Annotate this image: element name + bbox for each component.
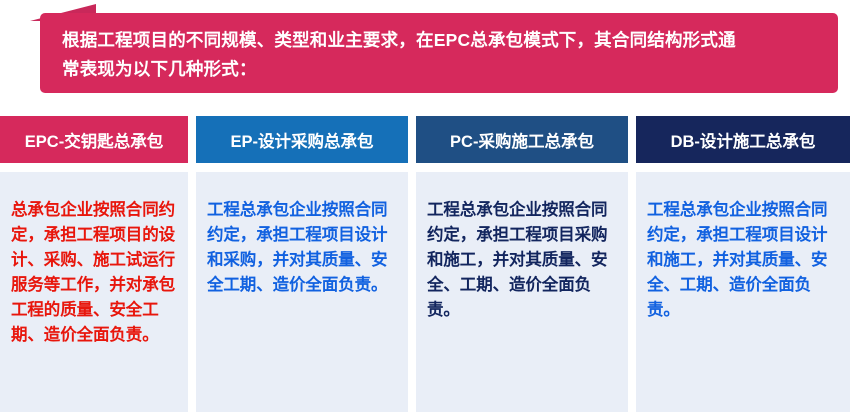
column-epc: EPC-交钥匙总承包 总承包企业按照合同约定，承担工程项目的设计、采购、施工试运… xyxy=(0,116,196,412)
column-pc: PC-采购施工总承包 工程总承包企业按照合同约定，承担工程项目采购和施工，并对其… xyxy=(416,116,636,412)
column-body-ep: 工程总承包企业按照合同约定，承担工程项目设计和采购，并对其质量、安全工期、造价全… xyxy=(196,172,408,412)
column-header-label-pc: PC-采购施工总承包 xyxy=(450,128,594,152)
column-header-label-db: DB-设计施工总承包 xyxy=(671,128,816,152)
column-header-ep[interactable]: EP-设计采购总承包 xyxy=(196,116,408,163)
column-body-text-ep: 工程总承包企业按照合同约定，承担工程项目设计和采购，并对其质量、安全工期、造价全… xyxy=(207,198,399,298)
column-gap-pc xyxy=(416,163,628,172)
column-body-pc: 工程总承包企业按照合同约定，承担工程项目采购和施工，并对其质量、安全、工期、造价… xyxy=(416,172,628,412)
column-gap-db xyxy=(636,163,850,172)
column-body-text-db: 工程总承包企业按照合同约定，承担工程项目设计和施工，并对其质量、安全、工期、造价… xyxy=(647,198,841,323)
column-header-db[interactable]: DB-设计施工总承包 xyxy=(636,116,850,163)
column-gap-ep xyxy=(196,163,408,172)
column-body-db: 工程总承包企业按照合同约定，承担工程项目设计和施工，并对其质量、安全、工期、造价… xyxy=(636,172,850,412)
column-header-pc[interactable]: PC-采购施工总承包 xyxy=(416,116,628,163)
column-gap-epc xyxy=(0,163,188,172)
banner: 根据工程项目的不同规模、类型和业主要求，在EPC总承包模式下，其合同结构形式通 … xyxy=(0,0,850,100)
column-ep: EP-设计采购总承包 工程总承包企业按照合同约定，承担工程项目设计和采购，并对其… xyxy=(196,116,416,412)
column-header-label-epc: EPC-交钥匙总承包 xyxy=(25,128,163,152)
column-body-text-pc: 工程总承包企业按照合同约定，承担工程项目采购和施工，并对其质量、安全、工期、造价… xyxy=(427,198,619,323)
column-body-epc: 总承包企业按照合同约定，承担工程项目的设计、采购、施工试运行服务等工作，并对承包… xyxy=(0,172,188,412)
banner-line-1: 根据工程项目的不同规模、类型和业主要求，在EPC总承包模式下，其合同结构形式通 xyxy=(62,26,818,55)
banner-box: 根据工程项目的不同规模、类型和业主要求，在EPC总承包模式下，其合同结构形式通 … xyxy=(40,13,838,93)
column-header-epc[interactable]: EPC-交钥匙总承包 xyxy=(0,116,188,163)
banner-line-2: 常表现为以下几种形式： xyxy=(62,55,818,84)
column-header-label-ep: EP-设计采购总承包 xyxy=(230,128,373,152)
column-body-text-epc: 总承包企业按照合同约定，承担工程项目的设计、采购、施工试运行服务等工作，并对承包… xyxy=(11,198,179,348)
column-db: DB-设计施工总承包 工程总承包企业按照合同约定，承担工程项目设计和施工，并对其… xyxy=(636,116,850,412)
contract-structure-columns: EPC-交钥匙总承包 总承包企业按照合同约定，承担工程项目的设计、采购、施工试运… xyxy=(0,116,850,412)
